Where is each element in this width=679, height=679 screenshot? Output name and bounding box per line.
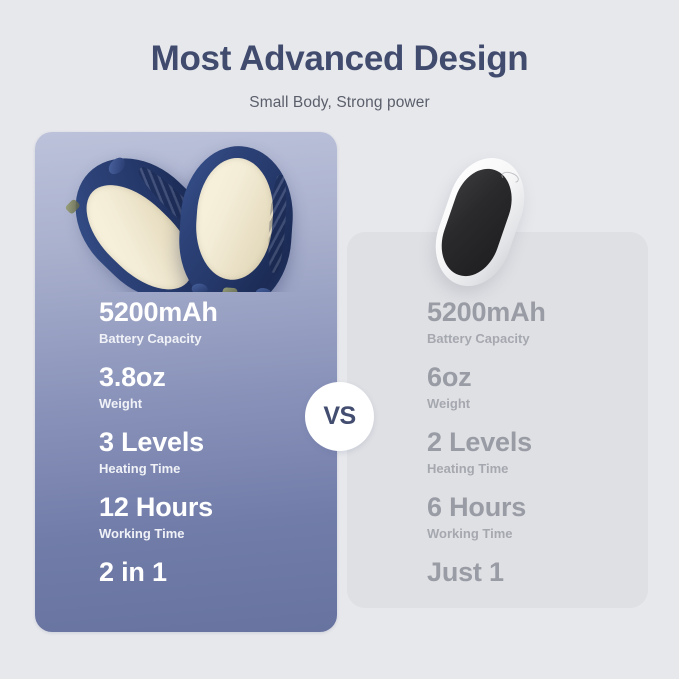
spec-value: 12 Hours bbox=[99, 492, 329, 523]
spec-row: 12 Hours Working Time bbox=[99, 492, 329, 557]
spec-label: Battery Capacity bbox=[427, 328, 647, 348]
vs-badge: VS bbox=[305, 382, 374, 451]
spec-row: Just 1 bbox=[427, 557, 647, 622]
spec-row: 2 Levels Heating Time bbox=[427, 427, 647, 492]
spec-label: Heating Time bbox=[99, 458, 329, 478]
brand-logo-icon bbox=[65, 198, 81, 214]
spec-value: Just 1 bbox=[427, 557, 647, 588]
spec-label: Weight bbox=[427, 393, 647, 413]
spec-row: 5200mAh Battery Capacity bbox=[99, 297, 329, 362]
spec-label: Battery Capacity bbox=[99, 328, 329, 348]
spec-row: 3 Levels Heating Time bbox=[99, 427, 329, 492]
vs-badge-label: VS bbox=[323, 404, 355, 429]
spec-value: 5200mAh bbox=[427, 297, 647, 328]
spec-list-right: 5200mAh Battery Capacity 6oz Weight 2 Le… bbox=[427, 297, 647, 622]
spec-row: 3.8oz Weight bbox=[99, 362, 329, 427]
spec-value: 5200mAh bbox=[99, 297, 329, 328]
spec-row: 2 in 1 bbox=[99, 557, 329, 622]
competitor-hand-warmer bbox=[424, 148, 537, 297]
spec-value: 2 in 1 bbox=[99, 557, 329, 588]
spec-label: Heating Time bbox=[427, 458, 647, 478]
spec-label: Weight bbox=[99, 393, 329, 413]
spec-label: Working Time bbox=[427, 523, 647, 543]
right-product-image bbox=[347, 150, 648, 292]
spec-value: 2 Levels bbox=[427, 427, 647, 458]
spec-value: 3.8oz bbox=[99, 362, 329, 393]
spec-row: 6 Hours Working Time bbox=[427, 492, 647, 557]
page-title: Most Advanced Design bbox=[0, 0, 679, 79]
hand-warmer-face bbox=[192, 155, 276, 282]
spec-label: Working Time bbox=[99, 523, 329, 543]
brand-logo-icon bbox=[222, 287, 238, 292]
power-button-icon bbox=[106, 155, 129, 178]
spec-value: 6 Hours bbox=[427, 492, 647, 523]
spec-value: 6oz bbox=[427, 362, 647, 393]
spec-list-left: 5200mAh Battery Capacity 3.8oz Weight 3 … bbox=[99, 297, 329, 622]
page-subtitle: Small Body, Strong power bbox=[0, 79, 679, 112]
speaker-port-right-icon bbox=[255, 288, 272, 292]
left-product-image bbox=[35, 132, 337, 292]
spec-value: 3 Levels bbox=[99, 427, 329, 458]
spec-row: 6oz Weight bbox=[427, 362, 647, 427]
hand-warmer-upright bbox=[174, 142, 297, 292]
speaker-port-left-icon bbox=[191, 283, 208, 292]
header: Most Advanced Design Small Body, Strong … bbox=[0, 0, 679, 112]
spec-row: 5200mAh Battery Capacity bbox=[427, 297, 647, 362]
